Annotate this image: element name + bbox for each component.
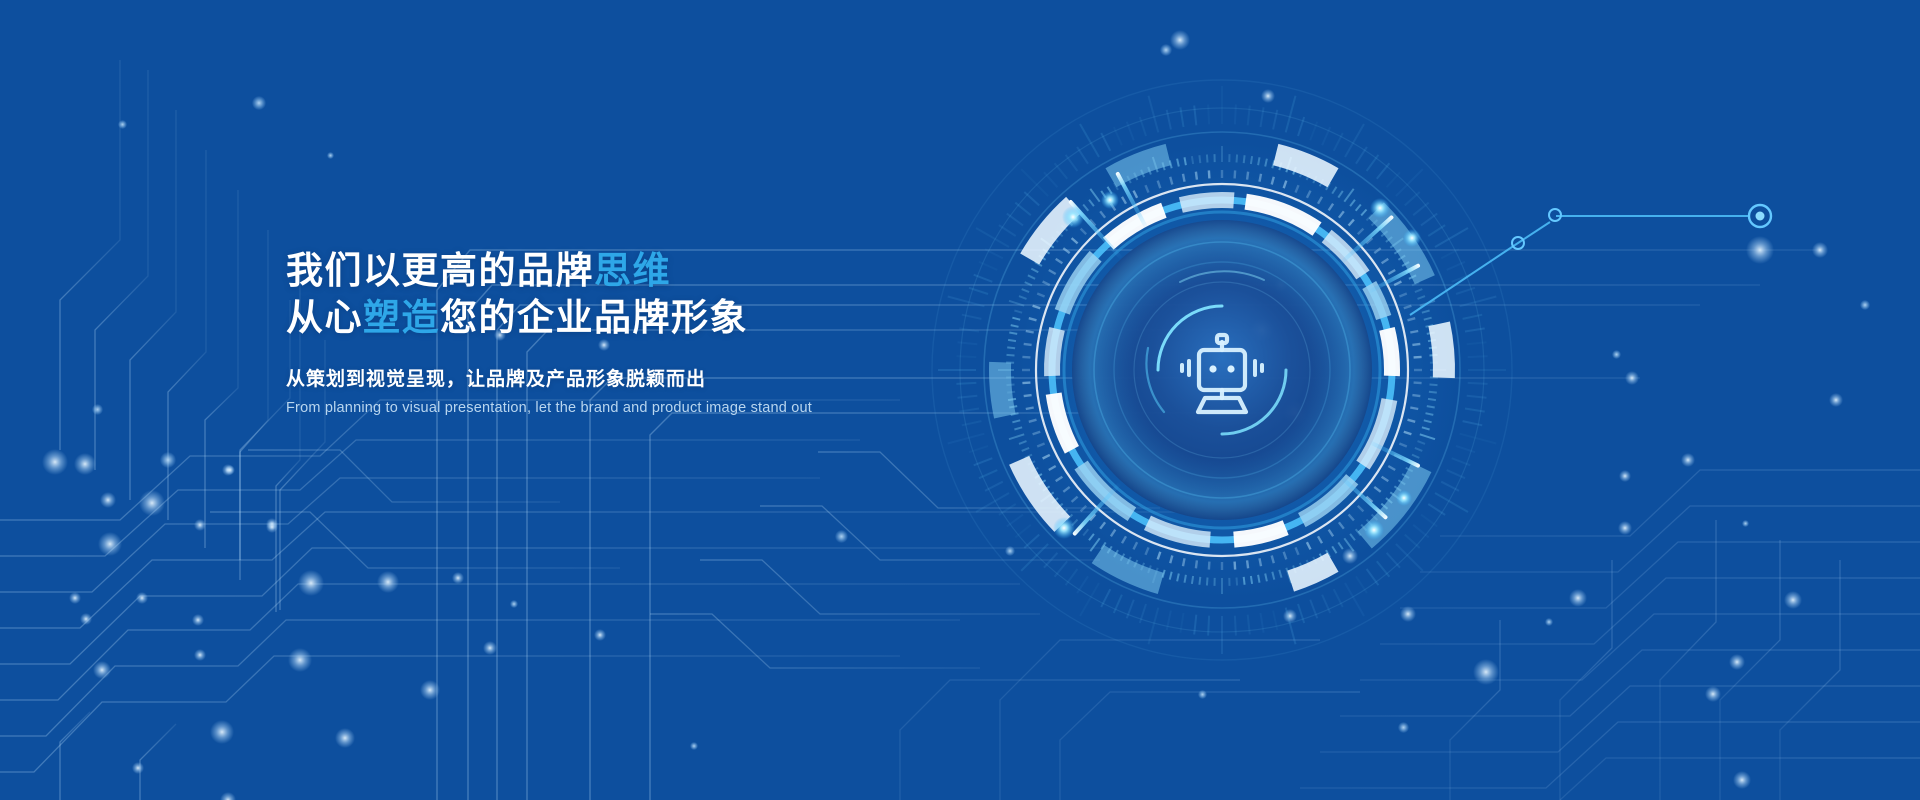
hud-core-lens (1072, 220, 1372, 520)
hud-segment-ring-outer (1000, 155, 1444, 584)
hud-segment-outer (1276, 155, 1333, 178)
hud-segment-outer (1291, 562, 1333, 581)
hero-copy: 我们以更高的品牌思维 从心塑造您的企业品牌形象 从策划到视觉呈现，让品牌及产品形… (286, 248, 1066, 416)
hud-inner-arc-l (1146, 348, 1164, 412)
hud-segment-outer (1019, 460, 1062, 524)
hud-segment-outer (1365, 467, 1422, 540)
hud-ring-main (1036, 184, 1408, 556)
robot-icon (1182, 335, 1262, 412)
hud-spark-7 (1396, 490, 1412, 506)
headline-line1: 我们以更高的品牌思维 (286, 250, 671, 291)
hud-inner-arc-tl (1158, 306, 1222, 370)
hud-spark-6 (1364, 520, 1384, 540)
hud-segment (1369, 285, 1383, 317)
hud-segment (1181, 200, 1234, 205)
connector-segment-diagonal (1410, 245, 1515, 315)
connector-segment-mid (1515, 222, 1550, 245)
hud-inner-arc-top (1180, 271, 1264, 282)
circuit-group-right (900, 470, 1920, 800)
hud-glow (1000, 140, 1460, 600)
hud-core-ring-3 (1134, 282, 1310, 458)
hud-sparks (1053, 171, 1421, 540)
headline: 我们以更高的品牌思维 从心塑造您的企业品牌形象 (286, 248, 1066, 342)
hud-segment (1363, 400, 1389, 466)
hud-core-halo (1072, 220, 1372, 520)
hud-segment (1246, 202, 1317, 229)
circuit-group-bottom-left (0, 60, 1180, 800)
hud-ring-thin (1064, 212, 1380, 528)
hud-segment (1081, 465, 1132, 514)
hud-segment-outer (1098, 554, 1161, 583)
headline-line1-accent: 思维 (594, 250, 671, 291)
hero-banner: 我们以更高的品牌思维 从心塑造您的企业品牌形象 从策划到视觉呈现，让品牌及产品形… (0, 0, 1920, 800)
connector-line (1380, 150, 1920, 350)
circuit-nodes-right (1170, 30, 1843, 789)
hud-core-ring-2 (1114, 262, 1330, 478)
hud-spark-2 (1101, 191, 1119, 209)
hud-segment (1302, 479, 1352, 520)
hud-segment (1147, 523, 1210, 540)
hud-segment (1062, 256, 1095, 312)
connector-node-small-2 (1549, 209, 1561, 221)
subtitle-cn: 从策划到视觉呈现，让品牌及产品形象脱颖而出 (286, 364, 1066, 391)
hud-segment-outer (1439, 324, 1444, 378)
hud-segment-outer (1111, 155, 1168, 178)
hud-segment (1108, 210, 1164, 243)
hud-segment-outer (1376, 210, 1425, 279)
headline-line2: 从心塑造您的企业品牌形象 (286, 295, 1066, 342)
connector-node-small-1 (1512, 237, 1524, 249)
connector-node-ring (1749, 205, 1771, 227)
hud-segment (1234, 528, 1286, 540)
headline-line2-text-after: 您的企业品牌形象 (440, 297, 748, 338)
hud-ring-glowband (1052, 200, 1392, 540)
hud-tick-ring-inner (1022, 170, 1422, 570)
hud-streak-6 (1337, 473, 1389, 520)
hud-streak-1 (1068, 199, 1123, 260)
hud-spark-3 (1370, 198, 1390, 218)
headline-line2-accent: 塑造 (363, 297, 440, 338)
subtitle-en: From planning to visual presentation, le… (286, 400, 1066, 416)
connector-node-core (1756, 212, 1765, 221)
hud-streak-4 (1368, 263, 1421, 294)
hud-spark-4 (1403, 229, 1421, 247)
hud-segment-ring (1052, 200, 1392, 540)
hud-streak-2 (1115, 171, 1149, 229)
headline-line2-text-before: 从心 (286, 297, 363, 338)
hud-core-ring-1 (1094, 242, 1350, 498)
hud-streak-3 (1338, 215, 1394, 266)
hud-segment (1387, 329, 1392, 376)
hud-spark-1 (1062, 206, 1084, 228)
circuit-nodes-bottom-left (42, 449, 606, 800)
hud-streak-5 (1072, 482, 1122, 537)
hud-streak-7 (1369, 440, 1421, 468)
hud-spark-5 (1053, 517, 1075, 539)
hud-inner-arc-br (1222, 370, 1286, 434)
hud-segment (1327, 236, 1363, 275)
headline-line1-text: 我们以更高的品牌 (286, 250, 594, 291)
